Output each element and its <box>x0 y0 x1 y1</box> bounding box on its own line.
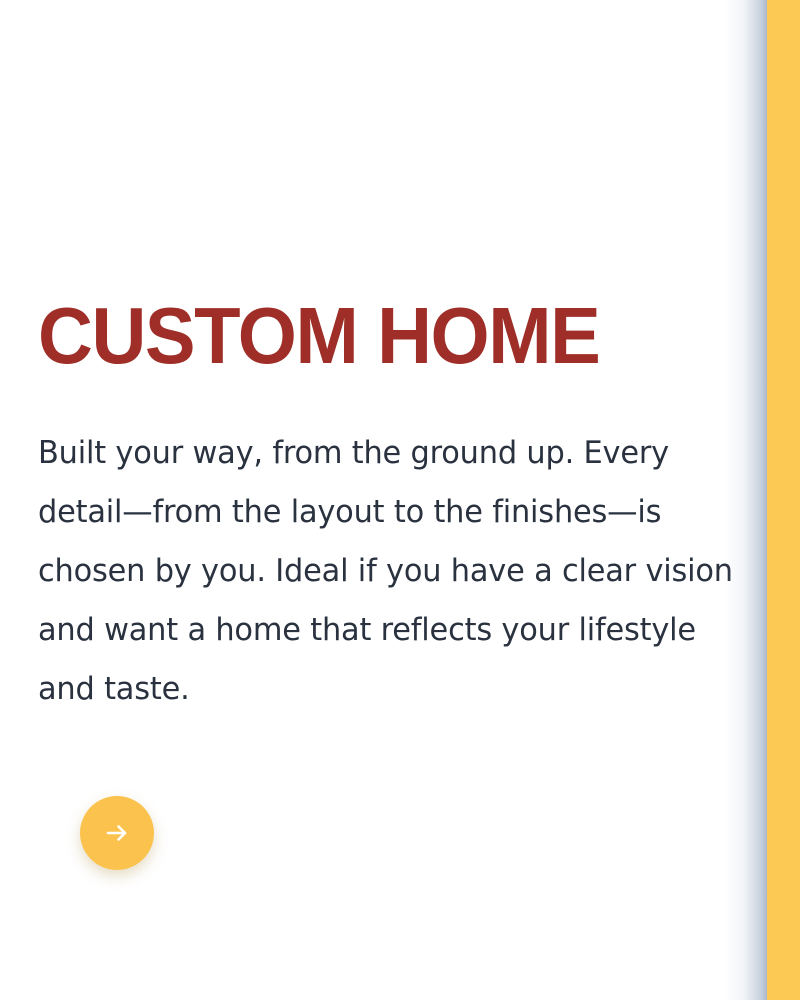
accent-strip <box>767 0 800 1000</box>
next-button[interactable] <box>80 796 154 870</box>
arrow-right-icon <box>100 816 134 850</box>
page-title: CUSTOM HOME <box>38 293 599 379</box>
slide-card: CUSTOM HOME Built your way, from the gro… <box>0 0 800 1000</box>
content-column: CUSTOM HOME Built your way, from the gro… <box>38 0 768 1000</box>
body-paragraph: Built your way, from the ground up. Ever… <box>38 424 742 719</box>
